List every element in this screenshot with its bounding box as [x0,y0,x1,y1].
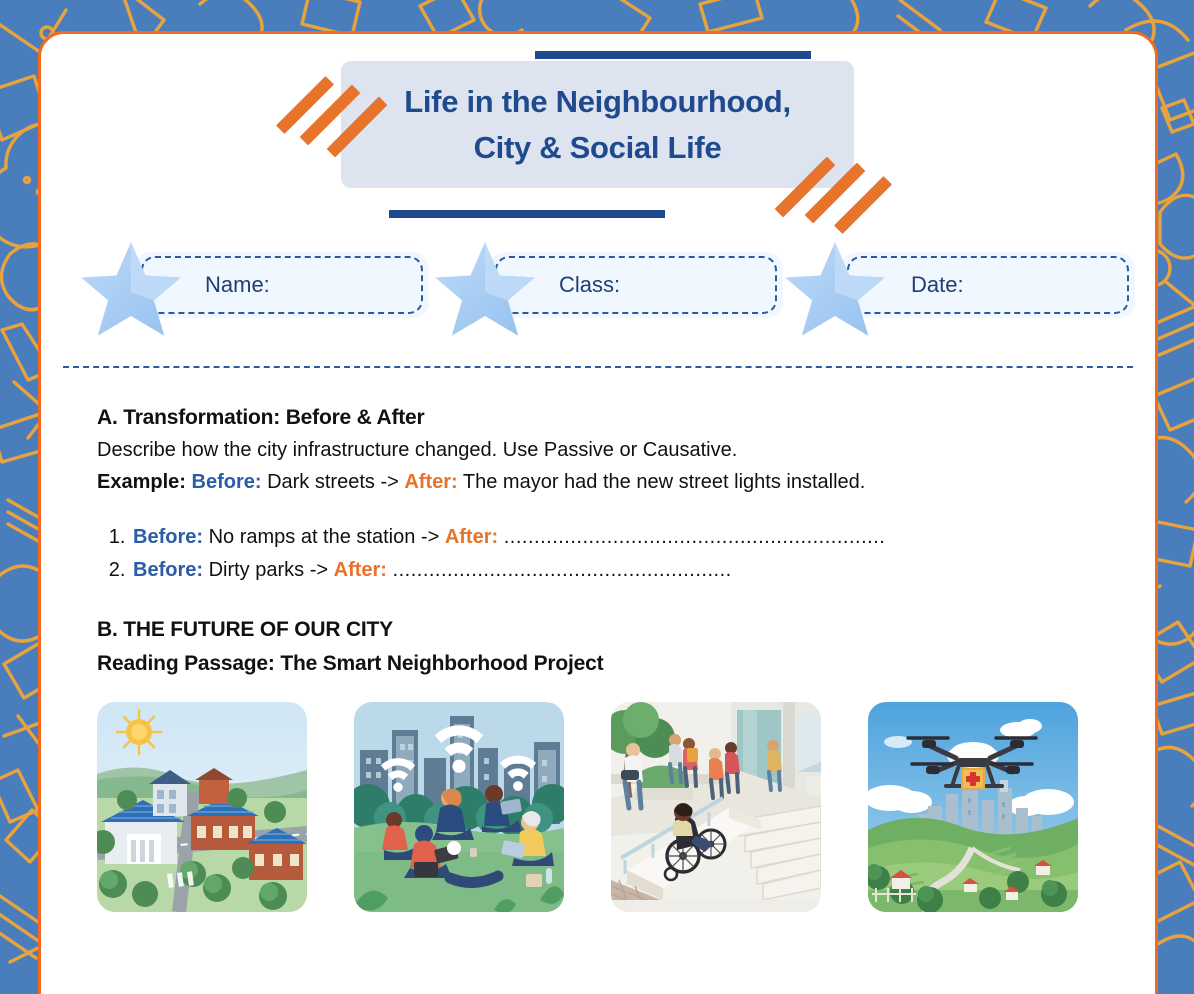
example-before-label: Before: [192,471,262,493]
section-a-example: Example: Before: Dark streets -> After: … [97,471,1099,494]
name-field-label: Name: [205,272,270,298]
section-a-item-list: Before: No ramps at the station -> After… [131,526,1099,582]
item-2-before-label: Before: [133,559,203,581]
worksheet-header: Life in the Neighbourhood, City & Social… [41,34,1155,234]
section-a-heading: A. Transformation: Before & After [97,406,1099,430]
title-bar-bottom [389,210,665,218]
section-b-heading: B. THE FUTURE OF OUR CITY [97,618,1099,642]
date-field-dashed-outline [847,256,1129,314]
worksheet-content: A. Transformation: Before & After Descri… [41,368,1155,912]
section-b-subheading: Reading Passage: The Smart Neighborhood … [97,652,1099,676]
title-bar-top [535,51,811,59]
item-2-before-text: Dirty parks [209,559,305,581]
illustration-solar-panel-neighbourhood [97,702,307,912]
list-item[interactable]: Before: Dirty parks -> After: ..........… [131,559,1099,582]
item-1-arrow: -> [421,526,439,548]
illustration-public-wifi-park [354,702,564,912]
section-a: A. Transformation: Before & After Descri… [97,406,1099,582]
date-field-label: Date: [911,272,964,298]
page-title-line-2: City & Social Life [474,125,722,171]
item-2-after-label: After: [334,559,387,581]
illustration-medical-delivery-drone [868,702,1078,912]
item-1-before-text: No ramps at the station [209,526,416,548]
section-b: B. THE FUTURE OF OUR CITY Reading Passag… [97,618,1099,912]
example-lead-label: Example: [97,471,186,493]
class-field-label: Class: [559,272,620,298]
star-icon-class [431,238,539,342]
worksheet-sheet: Life in the Neighbourhood, City & Social… [38,31,1158,994]
list-item[interactable]: Before: No ramps at the station -> After… [131,526,1099,549]
example-after-text: The mayor had the new street lights inst… [463,471,865,493]
worksheet-title-box: Life in the Neighbourhood, City & Social… [341,61,854,188]
student-info-row: Name: Class: Date: [41,238,1155,356]
illustration-wheelchair-accessibility-ramp [611,702,821,912]
section-a-instruction: Describe how the city infrastructure cha… [97,439,1099,462]
item-2-answer-line[interactable]: ........................................… [393,559,732,581]
example-before-text: Dark streets [267,471,375,493]
page-title-line-1: Life in the Neighbourhood, [404,79,791,125]
item-1-after-label: After: [445,526,498,548]
star-icon-date [781,238,889,342]
example-arrow: -> [380,471,398,493]
star-icon-name [77,238,185,342]
example-after-label: After: [404,471,457,493]
illustration-gallery [97,702,1099,912]
item-1-before-label: Before: [133,526,203,548]
item-2-arrow: -> [310,559,328,581]
worksheet-page: Life in the Neighbourhood, City & Social… [0,0,1194,994]
item-1-answer-line[interactable]: ........................................… [504,526,886,548]
